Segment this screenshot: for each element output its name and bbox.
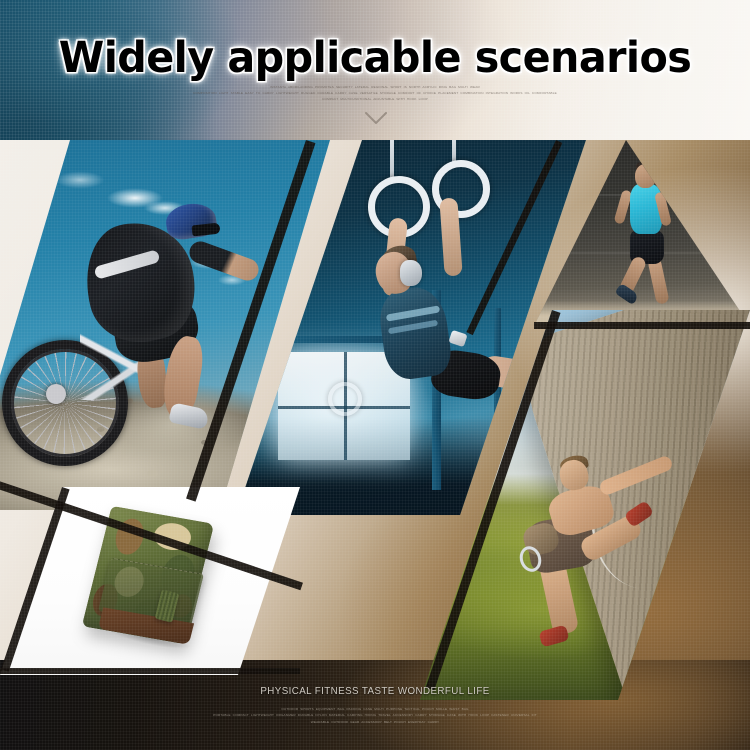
climber-shoe — [538, 624, 569, 647]
page-title: Widely applicable scenarios — [15, 33, 735, 83]
runner-shoe — [615, 283, 640, 305]
athlete-wrist-band — [448, 330, 467, 347]
runner-rear-leg — [647, 257, 669, 305]
footer-caption: PHYSICAL FITNESS TASTE WONDERFUL LIFE — [26, 685, 724, 697]
cyclist-visor — [192, 223, 221, 237]
subcaption-line: WEARABLE OUTDOOR GEAR ACCESSORY BELT POU… — [170, 719, 580, 725]
chevron-down-icon — [365, 112, 387, 125]
subtitle-line: COMPACT MULTIFUNCTIONAL ADJUSTABLE WITH … — [175, 96, 575, 102]
footer-subcaption: OUTDOOR SPORTS EQUIPMENT BAG PACKING CAS… — [170, 706, 580, 725]
cyclist-helmet — [164, 200, 219, 241]
wheel-hub — [46, 384, 66, 404]
tile-seam — [0, 668, 300, 674]
subcaption-line: PORTABLE COMPACT LIGHTWEIGHT ORGANIZER D… — [170, 712, 580, 718]
marketing-banner: Widely applicable scenarios INSTANTA ABO… — [0, 0, 750, 750]
cyclist-arm — [186, 238, 261, 283]
header-subtitle: INSTANTA ABORILANDING PROMOTES SECURITY … — [175, 84, 575, 102]
background-ring — [328, 382, 362, 416]
tile-seam — [534, 322, 750, 329]
athlete-headphones — [400, 260, 422, 286]
